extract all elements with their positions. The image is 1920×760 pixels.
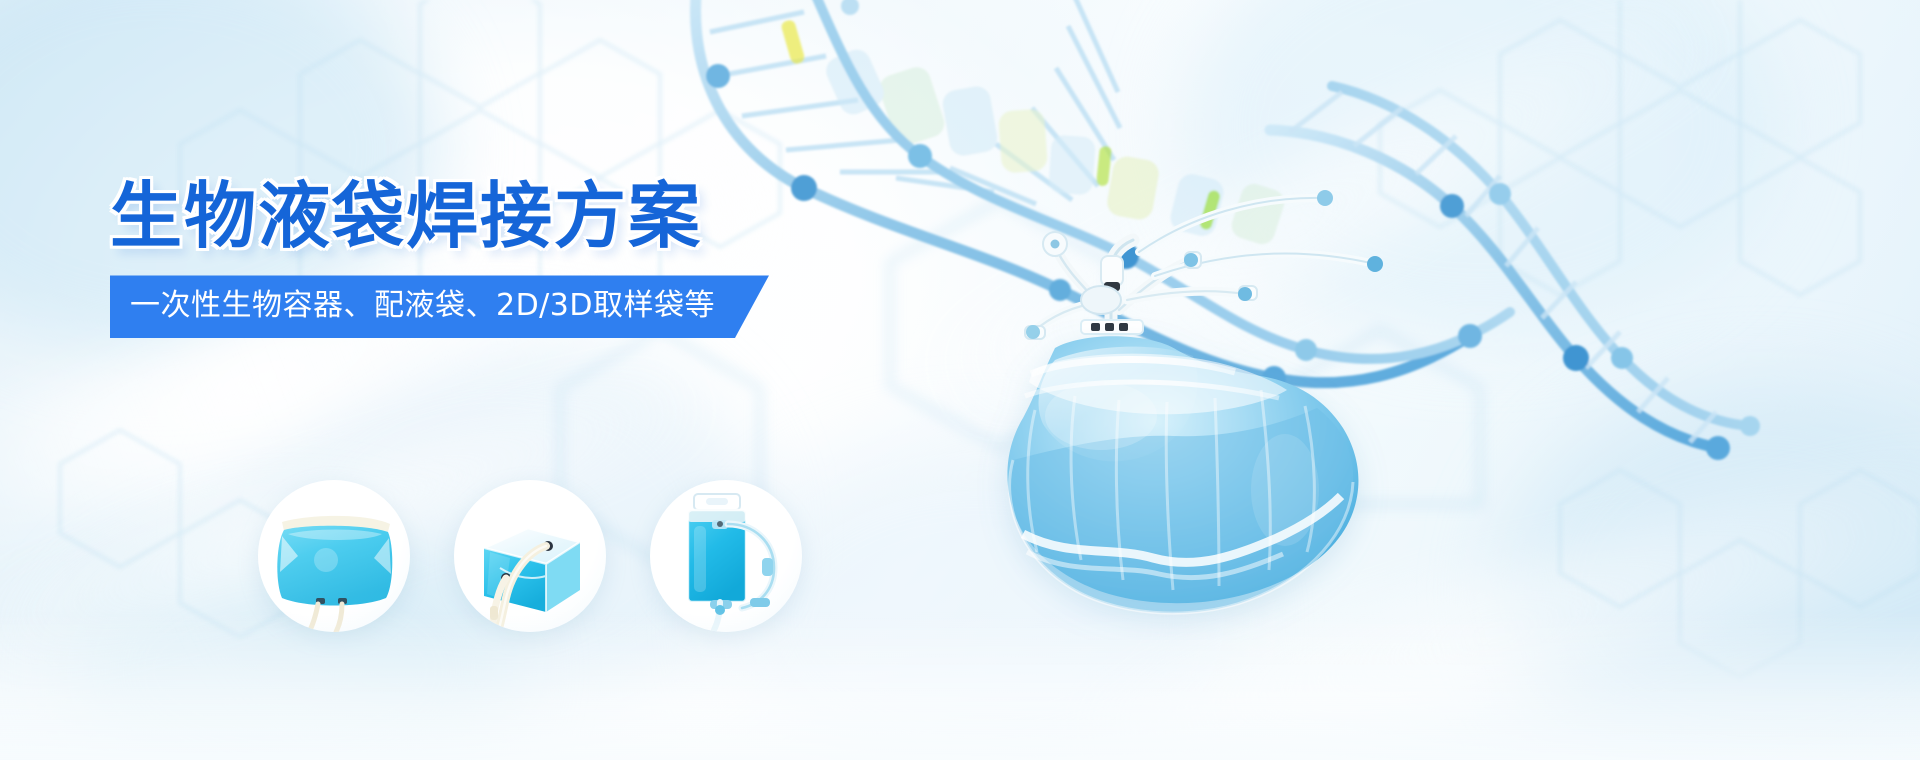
pillow-bag-icon — [258, 480, 410, 632]
page-title: 生物液袋焊接方案 — [110, 180, 930, 253]
tubing-manifold — [1033, 198, 1375, 332]
subtitle-text: 一次性生物容器、配液袋、2D/3D取样袋等 — [130, 287, 715, 325]
product-thumbnail-row — [258, 480, 878, 650]
product-circle-sampling-bag[interactable] — [650, 480, 802, 632]
headline-block: 生物液袋焊接方案 一次性生物容器、配液袋、2D/3D取样袋等 — [110, 180, 930, 338]
cube-bag-with-tubing-icon — [454, 480, 606, 632]
product-circle-pillow-bag[interactable] — [258, 480, 410, 632]
product-circle-3d-cube-bag[interactable] — [454, 480, 606, 632]
single-use-bioreactor-bag — [905, 160, 1525, 640]
bioreactor-bag-body — [1007, 336, 1358, 613]
promo-banner: 生物液袋焊接方案 一次性生物容器、配液袋、2D/3D取样袋等 — [0, 0, 1920, 760]
sampling-bag-icon — [650, 480, 802, 632]
subtitle-banner: 一次性生物容器、配液袋、2D/3D取样袋等 — [110, 275, 769, 338]
